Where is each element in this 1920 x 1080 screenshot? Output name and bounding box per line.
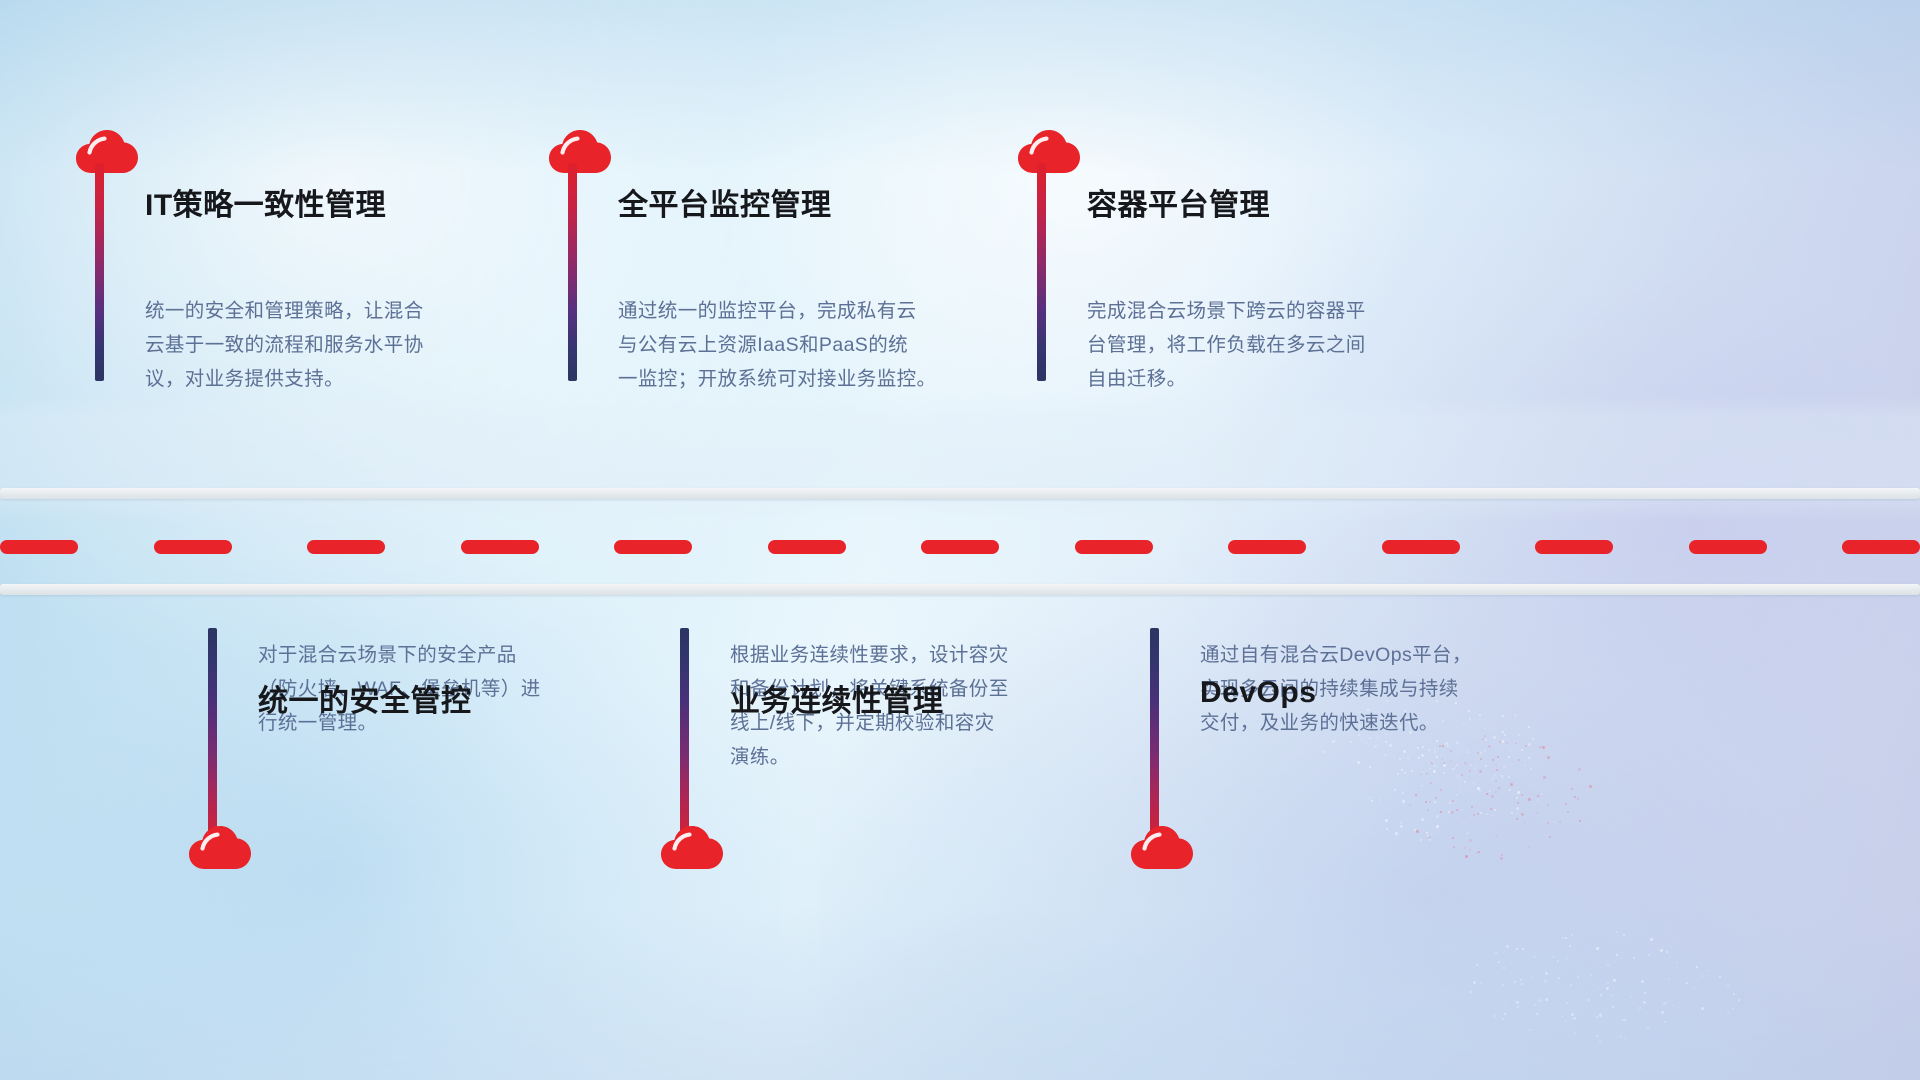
cloud-icon: [1131, 826, 1193, 870]
connector-stem: [1150, 628, 1159, 846]
item-heading: 业务连续性管理: [730, 676, 944, 720]
item-heading: IT策略一致性管理: [145, 180, 386, 224]
cloud-icon: [1018, 130, 1080, 174]
cloud-icon: [661, 826, 723, 870]
background-vignette: [0, 0, 1920, 1080]
item-heading: DevOps: [1200, 676, 1316, 710]
cloud-icon: [549, 130, 611, 174]
item-heading: 全平台监控管理: [618, 180, 832, 224]
connector-stem: [1037, 163, 1046, 381]
connector-stem: [680, 628, 689, 846]
cloud-icon: [189, 826, 251, 870]
item-description: 通过统一的监控平台，完成私有云 与公有云上资源IaaS和PaaS的统 一监控；开…: [618, 294, 936, 396]
connector-stem: [208, 628, 217, 846]
infographic-canvas: IT策略一致性管理 统一的安全和管理策略，让混合 云基于一致的流程和服务水平协 …: [0, 0, 1920, 1080]
connector-stem: [95, 163, 104, 381]
item-description: 统一的安全和管理策略，让混合 云基于一致的流程和服务水平协 议，对业务提供支持。: [145, 294, 424, 396]
item-description: 完成混合云场景下跨云的容器平 台管理，将工作负载在多云之间 自由迁移。: [1087, 294, 1366, 396]
cloud-icon: [76, 130, 138, 174]
connector-stem: [568, 163, 577, 381]
item-heading: 容器平台管理: [1087, 180, 1270, 224]
item-heading: 统一的安全管控: [258, 676, 472, 720]
